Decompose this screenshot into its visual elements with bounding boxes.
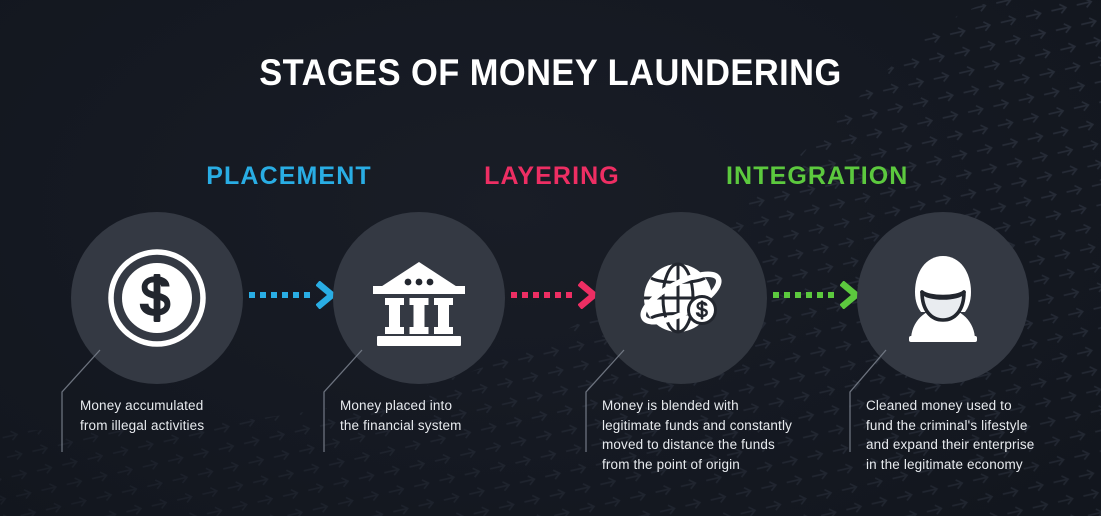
dollar-coin-icon xyxy=(107,248,207,348)
globe-money-icon xyxy=(631,248,731,348)
stage-circle-placement[interactable] xyxy=(71,212,243,384)
infographic-canvas: STAGES OF MONEY LAUNDERING PLACEMENT LAY… xyxy=(0,0,1101,516)
stage-circle-integration-globe[interactable] xyxy=(595,212,767,384)
stage-label-integration: INTEGRATION xyxy=(726,162,906,191)
arrow-dots xyxy=(249,292,310,298)
stage-circle-layering-bank[interactable] xyxy=(333,212,505,384)
bank-icon xyxy=(369,248,469,348)
caption-layering-placed: Money placed into the financial system xyxy=(340,396,580,435)
arrow-layering-to-integration xyxy=(511,281,600,309)
caption-placement: Money accumulated from illegal activitie… xyxy=(80,396,320,435)
page-title: STAGES OF MONEY LAUNDERING xyxy=(39,52,1063,94)
caption-cleaned-money: Cleaned money used to fund the criminal'… xyxy=(866,396,1101,474)
hooded-figure-icon xyxy=(893,248,993,348)
arrow-integration-to-end xyxy=(773,281,862,309)
stage-label-layering: LAYERING xyxy=(484,162,620,191)
stage-label-placement: PLACEMENT xyxy=(206,162,372,191)
arrow-placement-to-layering xyxy=(249,281,338,309)
stage-circle-cleaned-money[interactable] xyxy=(857,212,1029,384)
caption-integration-blended: Money is blended with legitimate funds a… xyxy=(602,396,852,474)
arrow-dots xyxy=(511,292,572,298)
arrow-dots xyxy=(773,292,834,298)
